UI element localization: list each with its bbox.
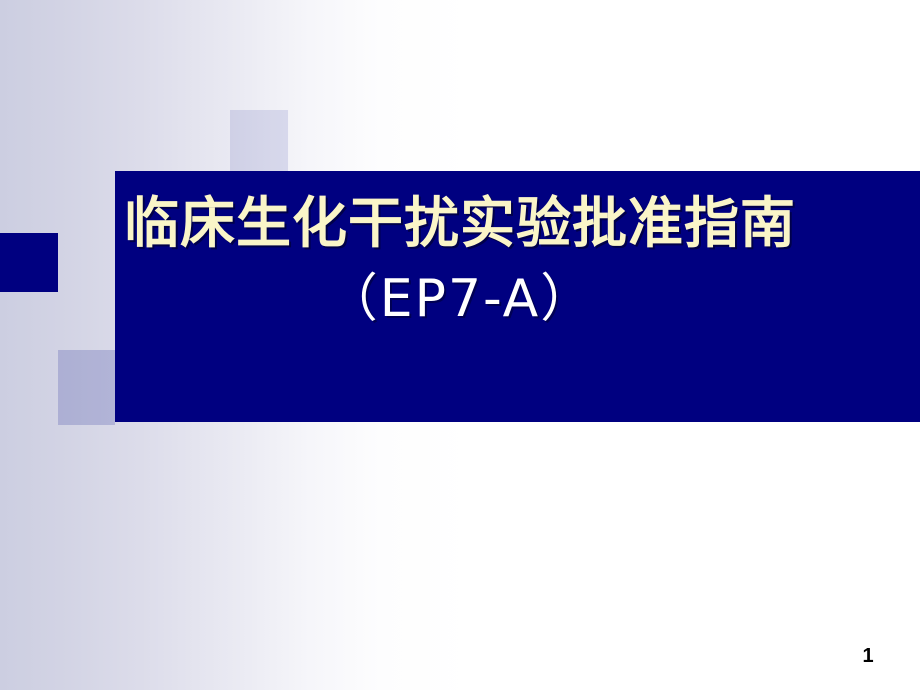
- slide-subtitle: （EP7-A）: [0, 273, 920, 325]
- title-block: 临床生化干扰实验批准指南 （EP7-A）: [0, 196, 920, 325]
- page-number: 1: [848, 645, 888, 668]
- decorative-square-0: [230, 110, 288, 171]
- decorative-square-8: [58, 350, 115, 425]
- slide-title: 临床生化干扰实验批准指南: [0, 196, 920, 251]
- slide-canvas: 临床生化干扰实验批准指南 （EP7-A） 1: [0, 0, 920, 690]
